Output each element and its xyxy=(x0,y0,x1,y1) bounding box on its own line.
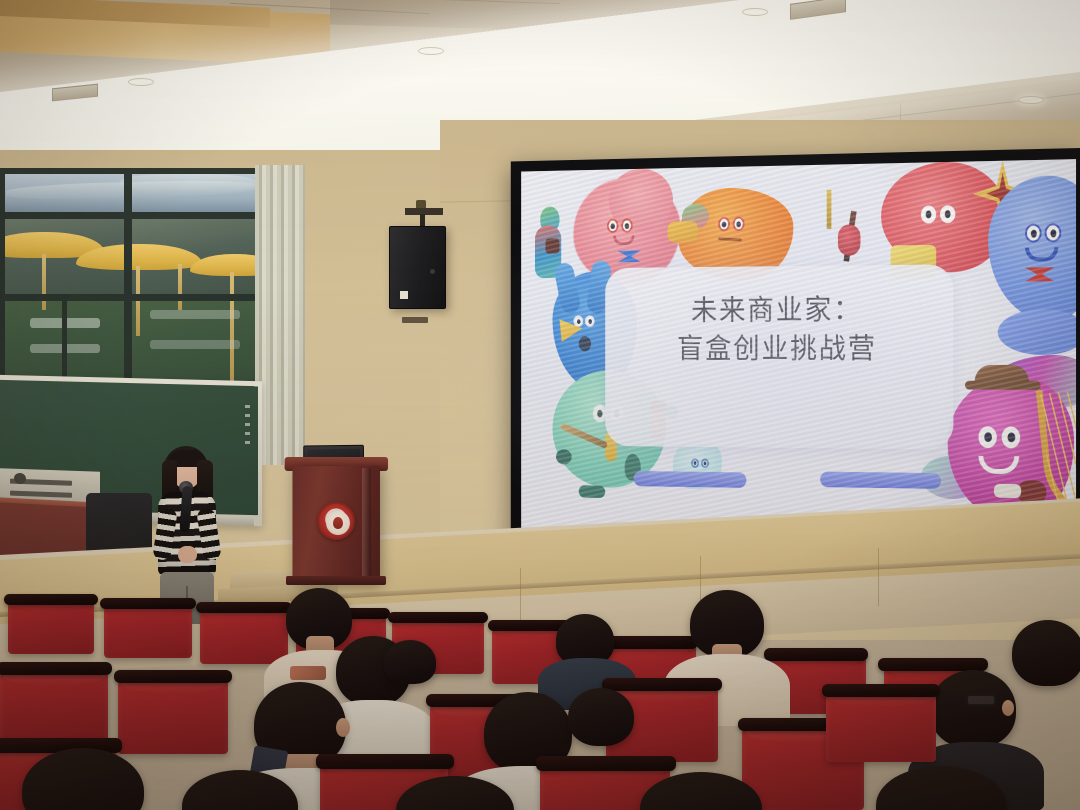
eye-icon xyxy=(607,219,619,233)
slide-title: 未来商业家： 盲盒创业挑战营 xyxy=(605,290,953,369)
chalkboard-marks xyxy=(245,405,250,449)
window-mullion xyxy=(0,294,268,301)
eye-icon xyxy=(1002,426,1020,448)
seat-armrest xyxy=(316,754,454,769)
eye-icon xyxy=(691,458,699,468)
red-blob-eyes xyxy=(921,205,955,223)
window-mullion xyxy=(124,168,132,402)
equipment-dial xyxy=(14,473,26,484)
rabbit-eyes xyxy=(573,315,594,326)
seat-armrest xyxy=(4,594,98,605)
slide-title-line-2: 盲盒创业挑战营 xyxy=(605,329,953,368)
eye-icon xyxy=(921,206,936,224)
auditorium-photograph: 未来商业家： 盲盒创业挑战营 xyxy=(0,0,1080,810)
small-character-instrument xyxy=(545,238,559,253)
presenter-speaker xyxy=(150,446,226,622)
speaker-indicator-icon xyxy=(400,291,408,299)
uniform-graphic xyxy=(290,666,326,680)
seat-row xyxy=(200,606,288,664)
seat-row xyxy=(8,598,94,654)
umbrella-pole xyxy=(230,272,234,382)
eye-icon xyxy=(1025,224,1042,243)
student-ear xyxy=(336,718,350,737)
student-head xyxy=(384,640,436,684)
small-character-accessory xyxy=(668,221,699,242)
downlight-icon xyxy=(742,8,768,16)
vertical-blind-curtain xyxy=(255,165,305,465)
seat-armrest xyxy=(196,602,292,613)
seat-armrest xyxy=(602,678,722,691)
student-ear xyxy=(1002,700,1014,716)
crest-inner xyxy=(326,511,350,535)
eye-icon xyxy=(733,217,745,232)
blue-blob-body xyxy=(998,309,1076,355)
downlight-icon xyxy=(1018,96,1044,104)
lectern-side-edge xyxy=(362,468,371,580)
eye-icon xyxy=(621,218,633,232)
stage-panel-seam xyxy=(520,568,521,622)
magenta-sleeve xyxy=(994,484,1021,498)
pink-blob-eyes xyxy=(607,218,633,233)
eye-icon xyxy=(718,217,730,232)
speaker-wall-label xyxy=(402,317,428,323)
eye-icon xyxy=(978,426,996,448)
small-blob-eyes xyxy=(691,458,709,468)
school-crest-emblem xyxy=(317,502,355,540)
seat-row xyxy=(104,602,192,658)
window-mullion xyxy=(0,212,268,219)
drumstick-tip xyxy=(556,449,572,464)
umbrella-pole xyxy=(136,266,140,336)
seat-row xyxy=(118,676,228,754)
window-reflection xyxy=(150,310,240,319)
rabbit-accessory xyxy=(579,336,591,351)
window-reflection xyxy=(120,174,255,192)
crest-figure xyxy=(333,517,343,529)
eye-icon xyxy=(701,458,709,468)
presenter-hands xyxy=(178,546,197,563)
slide-canvas: 未来商业家： 盲盒创业挑战营 xyxy=(521,159,1076,553)
eye-icon xyxy=(573,315,583,326)
stage-panel-seam xyxy=(878,548,879,606)
seat-armrest xyxy=(764,648,868,661)
slide-accent-bar xyxy=(820,472,941,489)
eye-icon xyxy=(1045,223,1062,242)
orange-blob-eyes xyxy=(718,217,744,232)
student-head xyxy=(568,688,634,746)
eyeglasses-icon xyxy=(966,694,996,706)
blue-blob-eyes xyxy=(1025,223,1061,242)
seat-armrest xyxy=(100,598,196,609)
eye-icon xyxy=(585,315,595,326)
slide-accent-bar xyxy=(634,471,747,488)
speaker-screw xyxy=(430,269,435,274)
lectern-base xyxy=(286,576,386,585)
seat-armrest xyxy=(536,756,676,771)
slide-title-line-1: 未来商业家： xyxy=(605,290,953,331)
student-head xyxy=(1012,620,1080,686)
seat-armrest xyxy=(388,612,488,623)
window-mullion xyxy=(0,168,5,402)
magenta-eyes xyxy=(978,426,1020,448)
window-reflection xyxy=(150,340,240,349)
downlight-icon xyxy=(128,78,154,86)
slide-title-card: 未来商业家： 盲盒创业挑战营 xyxy=(605,264,953,449)
seat-row xyxy=(826,690,936,762)
wall-mounted-loudspeaker xyxy=(389,226,446,309)
seat-armrest xyxy=(114,670,232,683)
instrument-string xyxy=(827,190,832,229)
hat-brim xyxy=(965,381,1041,390)
umbrella-pole xyxy=(42,254,46,310)
downlight-icon xyxy=(418,47,444,55)
instrument-body xyxy=(838,224,860,255)
seat-armrest xyxy=(0,662,112,675)
window-mullion xyxy=(0,168,268,174)
seat-armrest xyxy=(822,684,940,697)
eye-icon xyxy=(940,205,955,223)
equipment-slot xyxy=(10,491,72,498)
teal-foot xyxy=(579,485,605,498)
umbrella-pole xyxy=(178,264,182,310)
seat-row xyxy=(0,668,108,744)
